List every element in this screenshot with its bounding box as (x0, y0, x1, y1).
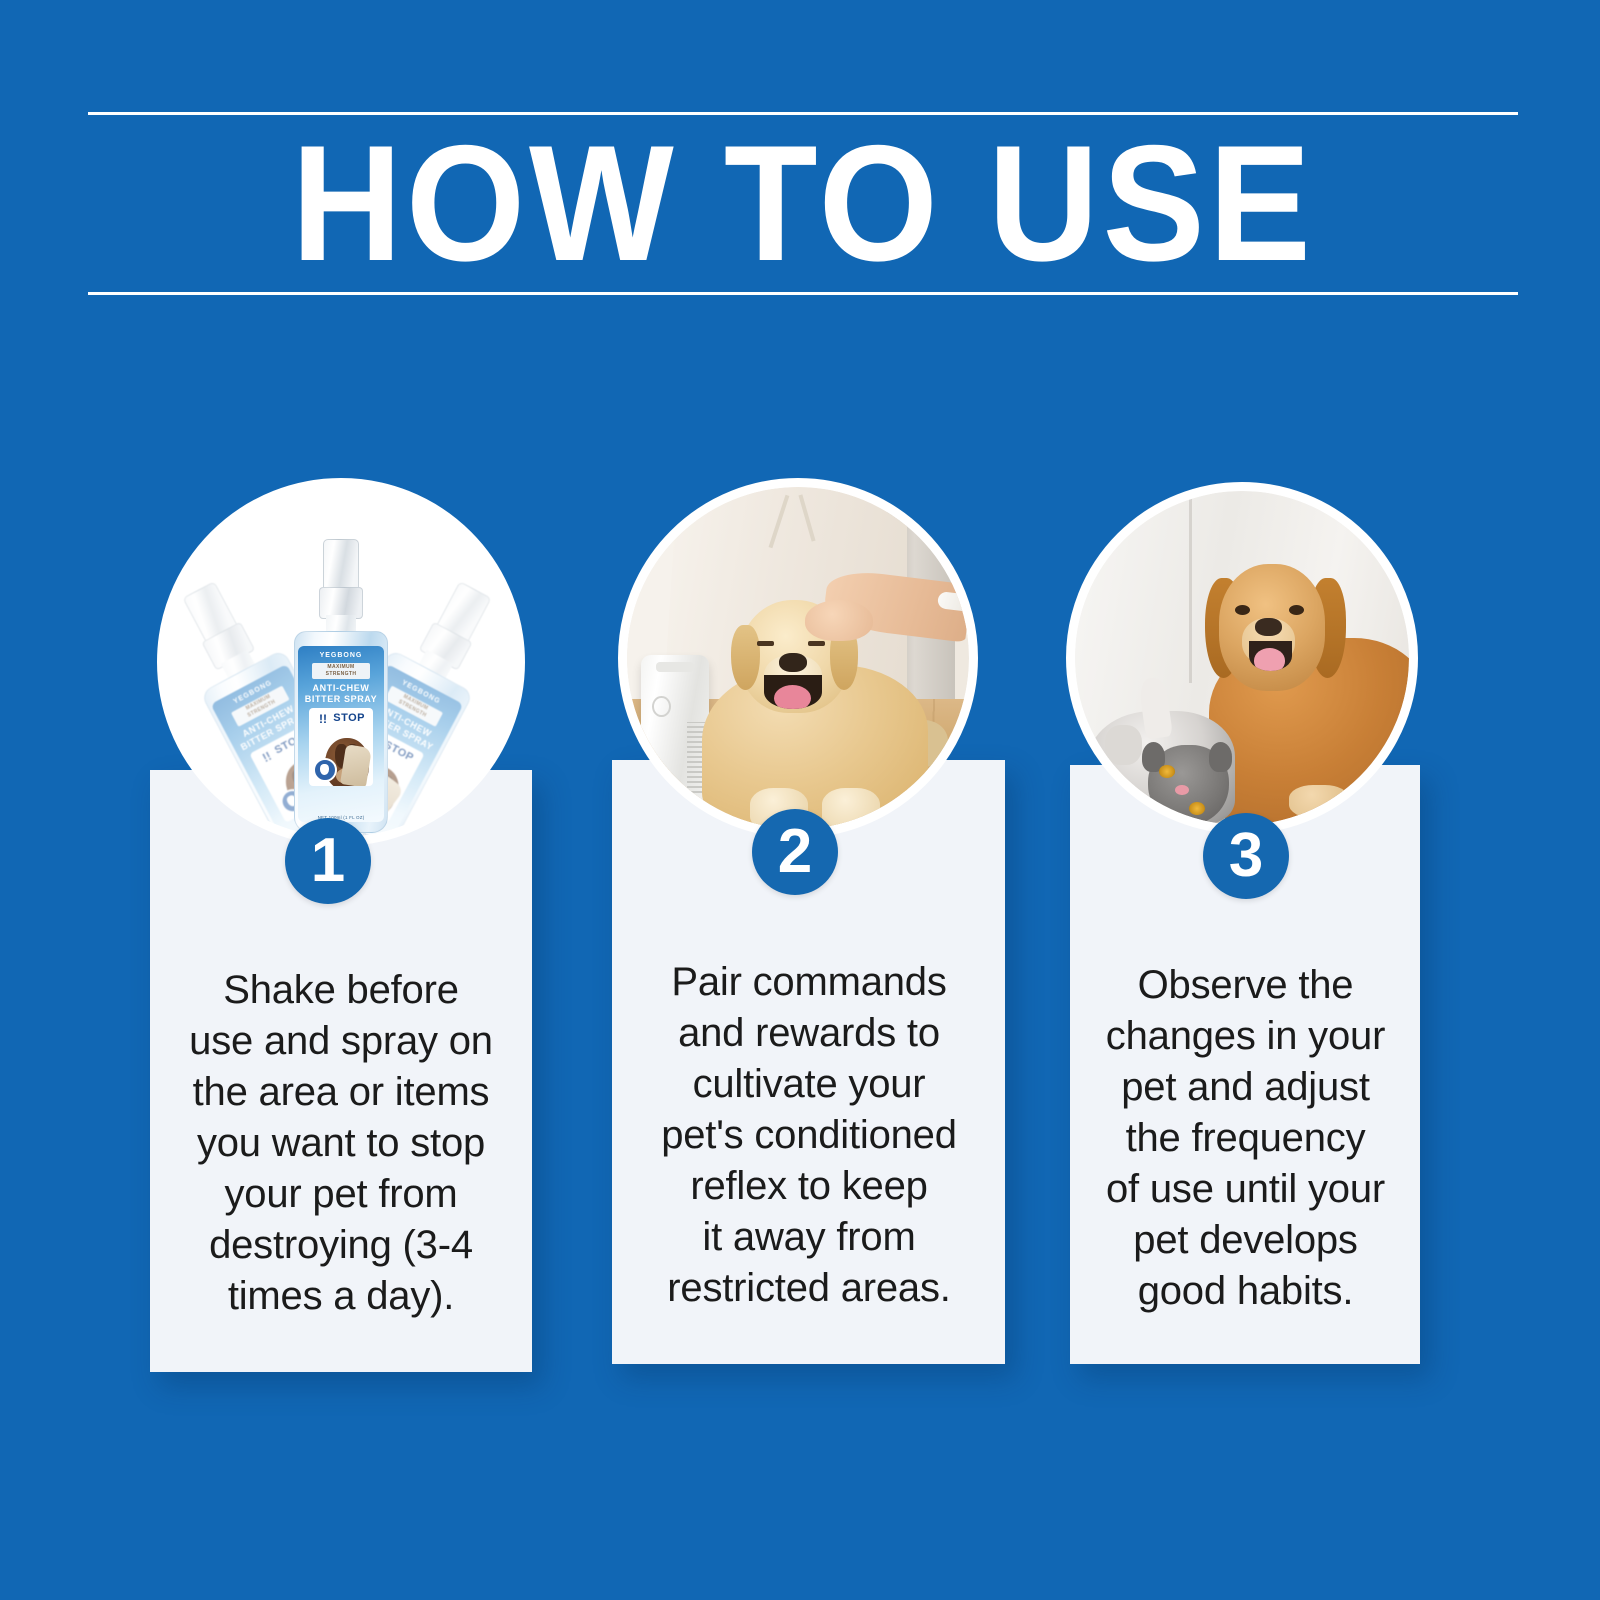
dog-paw (1289, 785, 1349, 818)
bottle-cap (323, 539, 359, 591)
dog-nose (779, 653, 806, 672)
cat-eye-right (1189, 802, 1206, 815)
cat-ear-right (1209, 742, 1232, 772)
dog-paw-right (822, 788, 880, 829)
step-number-badge-3: 3 (1203, 813, 1289, 899)
spray-bottles-illustration: YEGBONG MAXIMUM STRENGTH ANTI-CHEW BITTE… (166, 487, 516, 837)
shirt-sleeve (937, 591, 969, 612)
dog-tongue (774, 685, 811, 710)
spray-bottle-center: YEGBONG MAXIMUM STRENGTH ANTI-CHEW BITTE… (286, 539, 396, 829)
bottle-label-photo: !! STOP (309, 708, 373, 786)
dog-cat-scene (1075, 491, 1409, 825)
dog-eye-left (1235, 605, 1250, 615)
dog-eye-right (1289, 605, 1304, 615)
step-number-badge-2: 2 (752, 809, 838, 895)
step-1-description: Shake before use and spray on the area o… (166, 965, 516, 1322)
spray-scene: YEGBONG MAXIMUM STRENGTH ANTI-CHEW BITTE… (166, 487, 516, 837)
dog-and-cat-illustration (1075, 491, 1409, 825)
step-2-image (618, 478, 978, 838)
petting-scene (627, 487, 969, 829)
page-title: HOW TO USE (138, 114, 1468, 292)
step-1-image: YEGBONG MAXIMUM STRENGTH ANTI-CHEW BITTE… (157, 478, 525, 846)
bottle-label: YEGBONG MAXIMUM STRENGTH ANTI-CHEW BITTE… (298, 646, 384, 822)
step-3-description: Observe the changes in your pet and adju… (1082, 960, 1409, 1317)
air-purifier (641, 655, 709, 802)
bang-icon: !! (260, 749, 274, 765)
chewed-shoe-icon (340, 744, 372, 786)
bang-icon: !! (319, 712, 327, 726)
dog-ear-left (731, 625, 759, 690)
cat-paw (1105, 725, 1142, 765)
step-3-image (1066, 482, 1418, 834)
step-2-description: Pair commands and rewards to cultivate y… (628, 957, 990, 1314)
bottle-brand: YEGBONG (298, 652, 384, 659)
step-number-badge-1: 1 (285, 818, 371, 904)
purifier-power-button-icon (652, 696, 671, 718)
petting-dog-illustration (627, 487, 969, 829)
header-rule-bottom (88, 292, 1518, 295)
cat-nose (1175, 785, 1188, 795)
page-header: HOW TO USE (88, 112, 1518, 302)
dog-nose (1255, 618, 1282, 636)
dog-mouth (764, 675, 822, 709)
dog-eye-right (808, 641, 825, 646)
human-hand (805, 600, 873, 641)
dog-tongue (1254, 648, 1285, 671)
stop-text: STOP (333, 712, 365, 724)
bottle-strength: MAXIMUM STRENGTH (312, 663, 370, 679)
dog-eye-left (757, 641, 774, 646)
bottle-body: YEGBONG MAXIMUM STRENGTH ANTI-CHEW BITTE… (294, 631, 388, 833)
bottle-product-name: ANTI-CHEW BITTER SPRAY (298, 683, 384, 705)
steps-container: YEGBONG MAXIMUM STRENGTH ANTI-CHEW BITTE… (0, 470, 1600, 1400)
tooth-badge-icon (313, 758, 337, 782)
